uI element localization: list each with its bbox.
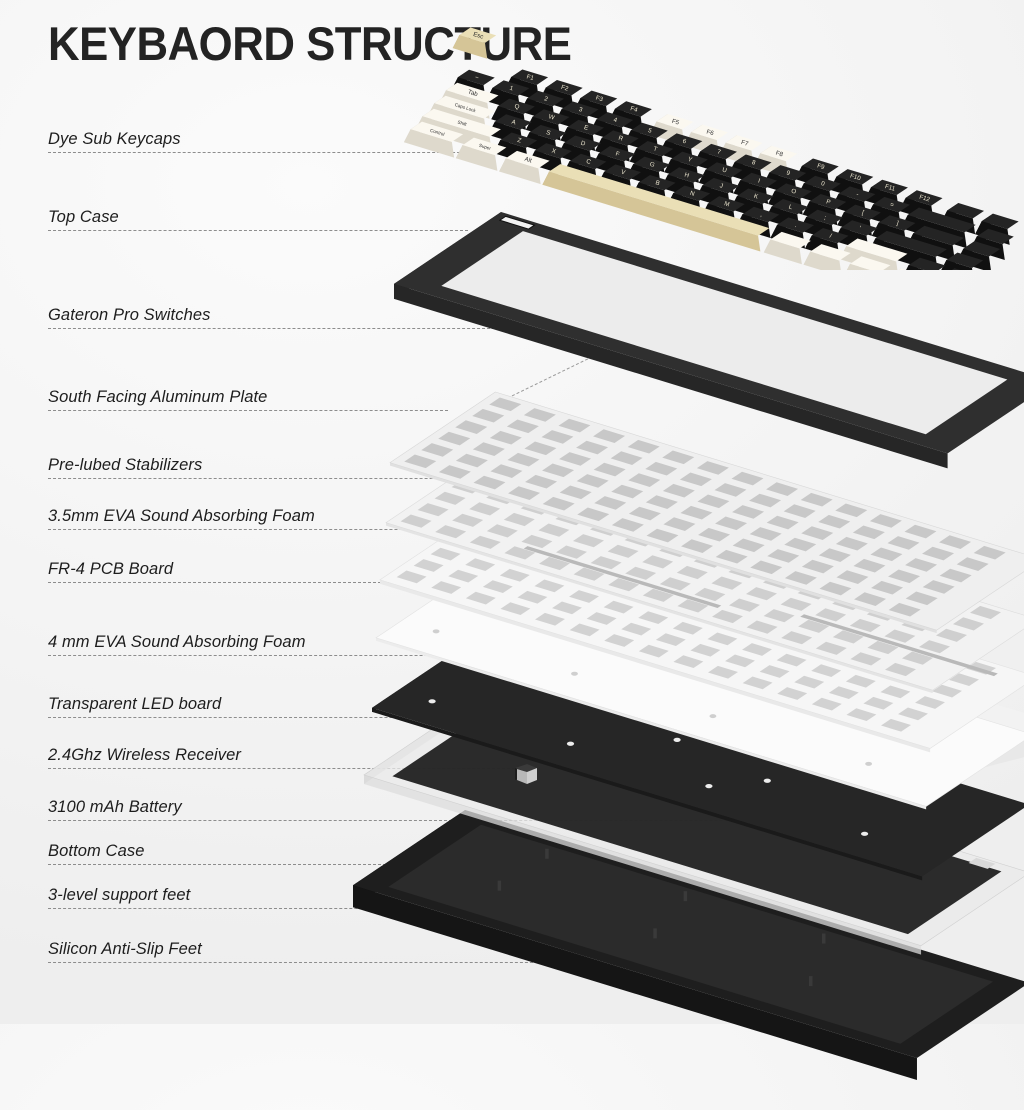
svg-text:F10: F10 <box>849 172 862 182</box>
callout-leader-diagonal-1 <box>528 510 563 531</box>
svg-text:-: - <box>855 191 859 198</box>
page-title: KEYBAORD STRUCTURE <box>48 16 571 71</box>
callout-label-support-feet: 3-level support feet <box>48 886 190 905</box>
svg-text:5: 5 <box>647 127 653 135</box>
callout-leader-bottom-case <box>48 864 526 865</box>
svg-text:R: R <box>618 135 625 143</box>
callout-leader-stabilizers <box>48 478 528 479</box>
svg-text:Super: Super <box>478 143 492 152</box>
svg-text:U: U <box>721 166 727 174</box>
svg-text:Control: Control <box>430 128 446 137</box>
exploded-keyboard-illustration: EscF1F2F3F4F5F6F7F8F9F10F11F12~123456789… <box>455 0 1024 1110</box>
svg-text:1: 1 <box>509 85 515 93</box>
svg-text:C: C <box>585 158 592 166</box>
callout-label-wireless-receiver: 2.4Ghz Wireless Receiver <box>48 746 241 765</box>
callout-leader-led-board <box>48 717 518 718</box>
svg-text:K: K <box>753 193 760 201</box>
svg-text:F5: F5 <box>671 118 680 127</box>
svg-text:W: W <box>548 113 556 121</box>
svg-text:/: / <box>829 233 833 240</box>
callout-label-battery: 3100 mAh Battery <box>48 798 182 817</box>
svg-text:O: O <box>790 188 797 196</box>
svg-text:2: 2 <box>543 95 549 103</box>
svg-text:Caps Lock: Caps Lock <box>454 102 477 113</box>
svg-text:V: V <box>620 169 627 177</box>
silicon-anti-slip-foot <box>543 938 613 978</box>
svg-text:F: F <box>615 150 621 158</box>
svg-text:Alt: Alt <box>524 156 533 165</box>
callout-leader-wireless-receiver <box>48 768 520 769</box>
callout-leader-diagonal-2 <box>520 469 549 480</box>
callout-leader-gateron-pro-switches <box>48 328 510 329</box>
callout-label-dye-sub-keycaps: Dye Sub Keycaps <box>48 130 181 149</box>
svg-text:0: 0 <box>820 180 826 188</box>
svg-text:J: J <box>719 182 724 190</box>
stabilizer-layer <box>384 450 1024 695</box>
svg-text:7: 7 <box>716 148 722 156</box>
svg-text:F8: F8 <box>775 150 784 159</box>
svg-text:Q: Q <box>514 103 521 111</box>
aluminum-plate-layer <box>388 390 1024 635</box>
svg-text:F9: F9 <box>816 162 825 171</box>
callout-label-eva-foam-35: 3.5mm EVA Sound Absorbing Foam <box>48 507 315 526</box>
svg-text:H: H <box>684 171 690 179</box>
diagram-canvas: KEYBAORD STRUCTURE EscF1F2F3F4F5F6F7F8F9… <box>0 0 1024 1024</box>
svg-text:=: = <box>889 201 895 209</box>
support-feet <box>485 840 605 930</box>
callout-leader-support-feet <box>48 908 513 909</box>
callout-label-anti-slip-feet: Silicon Anti-Slip Feet <box>48 940 202 959</box>
svg-text:8: 8 <box>751 159 757 167</box>
svg-text:M: M <box>723 200 730 208</box>
callout-leader-battery <box>48 820 838 821</box>
svg-text:A: A <box>511 119 518 127</box>
svg-text:I: I <box>757 177 761 184</box>
callout-label-led-board: Transparent LED board <box>48 695 221 714</box>
svg-text:Z: Z <box>516 137 522 145</box>
callout-label-stabilizers: Pre-lubed Stabilizers <box>48 456 202 475</box>
svg-text:N: N <box>689 190 695 198</box>
svg-text:L: L <box>788 203 794 211</box>
svg-text:Shift: Shift <box>457 120 468 128</box>
top-case-layer <box>392 210 1024 470</box>
svg-text:3: 3 <box>578 106 584 114</box>
callout-label-gateron-pro-switches: Gateron Pro Switches <box>48 306 211 325</box>
svg-text:F4: F4 <box>629 105 638 114</box>
svg-text:G: G <box>649 161 656 169</box>
svg-text:6: 6 <box>682 138 688 146</box>
svg-text:;: ; <box>823 214 827 221</box>
svg-text:S: S <box>545 129 551 137</box>
svg-text:F3: F3 <box>595 94 604 103</box>
svg-text:P: P <box>825 198 831 206</box>
callout-label-eva-foam-4: 4 mm EVA Sound Absorbing Foam <box>48 633 306 652</box>
svg-text:F2: F2 <box>560 84 569 93</box>
callout-leader-top-case <box>48 230 468 231</box>
svg-text:]: ] <box>896 220 900 227</box>
bottom-case-layer <box>351 808 1024 1082</box>
eva-foam-4mm-layer <box>370 634 1024 882</box>
svg-text:T: T <box>652 145 658 153</box>
callout-leader-aluminum-plate <box>48 410 448 411</box>
svg-text:9: 9 <box>786 170 792 178</box>
callout-leader-diagonal-0 <box>480 358 588 412</box>
callout-leader-eva-foam-4 <box>48 655 528 656</box>
battery-layer <box>785 700 1024 830</box>
callout-label-bottom-case: Bottom Case <box>48 842 144 861</box>
svg-text:F7: F7 <box>740 139 749 148</box>
svg-text:[: [ <box>861 209 865 216</box>
svg-text:F1: F1 <box>526 73 535 82</box>
svg-text:F12: F12 <box>918 194 931 204</box>
svg-text:E: E <box>583 124 589 132</box>
svg-text:F6: F6 <box>706 128 715 137</box>
svg-text:Y: Y <box>687 156 693 164</box>
fr4-pcb-layer <box>374 564 1024 811</box>
callout-label-pcb-board: FR-4 PCB Board <box>48 560 173 579</box>
svg-text:D: D <box>580 140 587 148</box>
callout-leader-anti-slip-feet <box>48 962 548 963</box>
wireless-receiver-dongle <box>511 760 559 802</box>
callout-leader-eva-foam-35 <box>48 529 528 530</box>
svg-text:B: B <box>655 179 661 187</box>
led-board-layer <box>362 700 1024 957</box>
svg-text:.: . <box>794 222 798 229</box>
callout-leader-dye-sub-keycaps <box>48 152 480 153</box>
callout-label-top-case: Top Case <box>48 208 119 227</box>
svg-text:F11: F11 <box>884 183 896 193</box>
svg-text:': ' <box>858 225 861 232</box>
svg-text:,: , <box>760 211 764 218</box>
svg-text:Tab: Tab <box>467 89 479 99</box>
svg-text:4: 4 <box>613 117 619 125</box>
callout-label-aluminum-plate: South Facing Aluminum Plate <box>48 388 267 407</box>
svg-text:~: ~ <box>474 74 480 82</box>
callout-leader-pcb-board <box>48 582 536 583</box>
svg-text:X: X <box>551 147 557 155</box>
